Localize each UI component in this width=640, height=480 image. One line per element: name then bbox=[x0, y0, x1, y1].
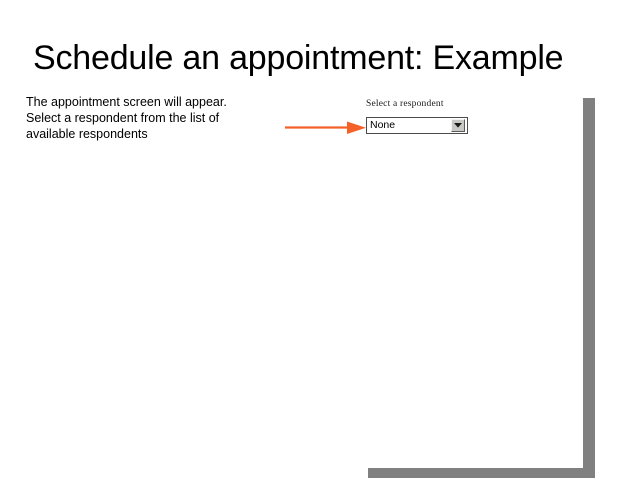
chevron-down-icon[interactable] bbox=[451, 119, 465, 132]
respondent-select[interactable]: None bbox=[366, 117, 468, 134]
respondent-field-group: Select a respondent None bbox=[366, 98, 470, 134]
respondent-selected-value: None bbox=[367, 118, 451, 133]
slide-canvas: Schedule an appointment: Example The app… bbox=[0, 0, 640, 480]
screenshot-shadow-bottom bbox=[368, 468, 595, 478]
screenshot-shadow-right bbox=[583, 98, 595, 478]
respondent-label: Select a respondent bbox=[366, 98, 470, 110]
body-text: The appointment screen will appear. Sele… bbox=[26, 94, 256, 142]
page-title: Schedule an appointment: Example bbox=[33, 38, 613, 78]
arrow-right-icon bbox=[283, 118, 367, 138]
